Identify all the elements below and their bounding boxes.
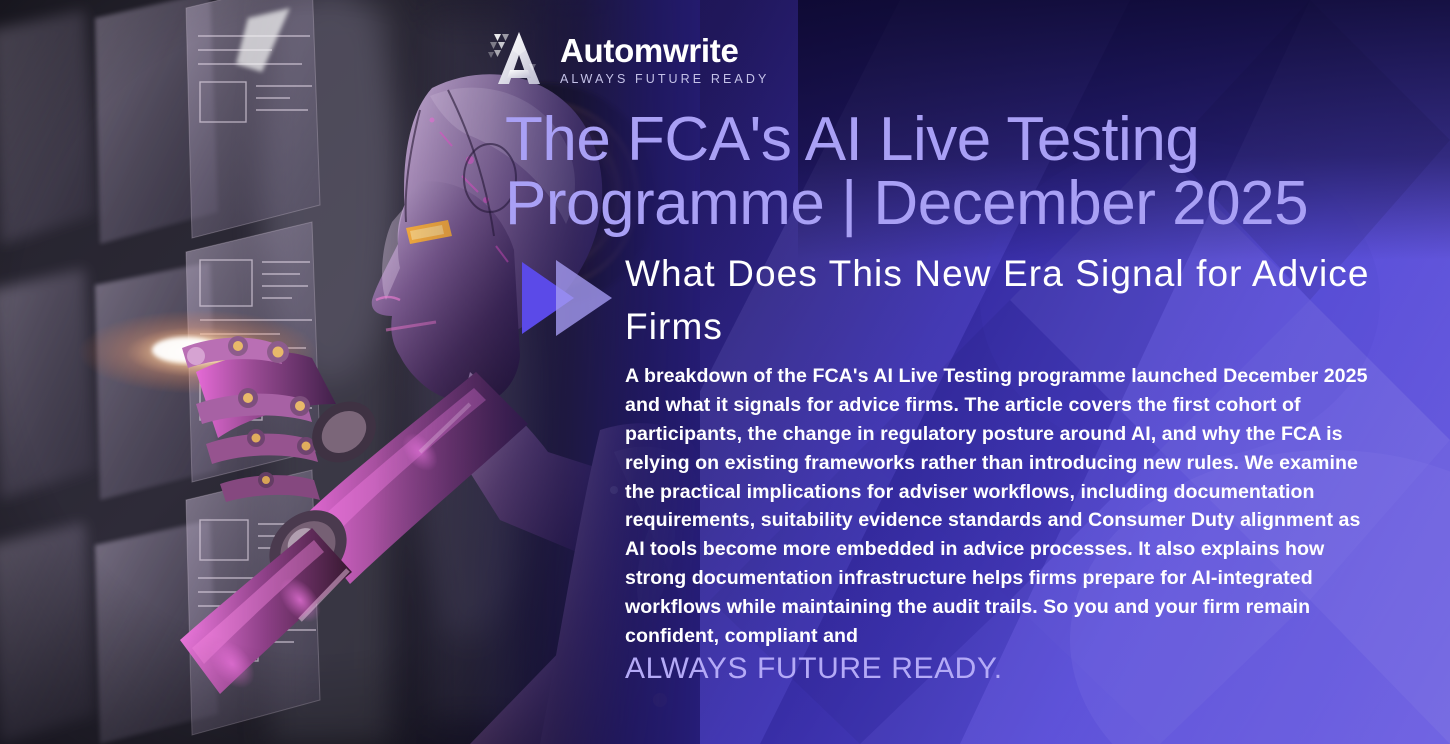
automwrite-triangle-a-logo-icon: [488, 28, 550, 88]
article-summary: A breakdown of the FCA's AI Live Testing…: [625, 362, 1370, 651]
brand-tagline: ALWAYS FUTURE READY: [560, 73, 769, 86]
brand-wordmark: Automwrite ALWAYS FUTURE READY: [560, 30, 769, 86]
article-summary-text: A breakdown of the FCA's AI Live Testing…: [625, 362, 1370, 651]
brand-logo[interactable]: Automwrite ALWAYS FUTURE READY: [488, 28, 769, 88]
brand-name: Automwrite: [560, 34, 769, 67]
double-play-triangle-icon: [512, 252, 622, 340]
page-subtitle: What Does This New Era Signal for Advice…: [625, 248, 1385, 353]
closing-tagline: ALWAYS FUTURE READY.: [625, 652, 1003, 686]
article-hero-banner: Automwrite ALWAYS FUTURE READY The FCA's…: [0, 0, 1450, 744]
page-title: The FCA's AI Live Testing Programme | De…: [505, 108, 1435, 237]
